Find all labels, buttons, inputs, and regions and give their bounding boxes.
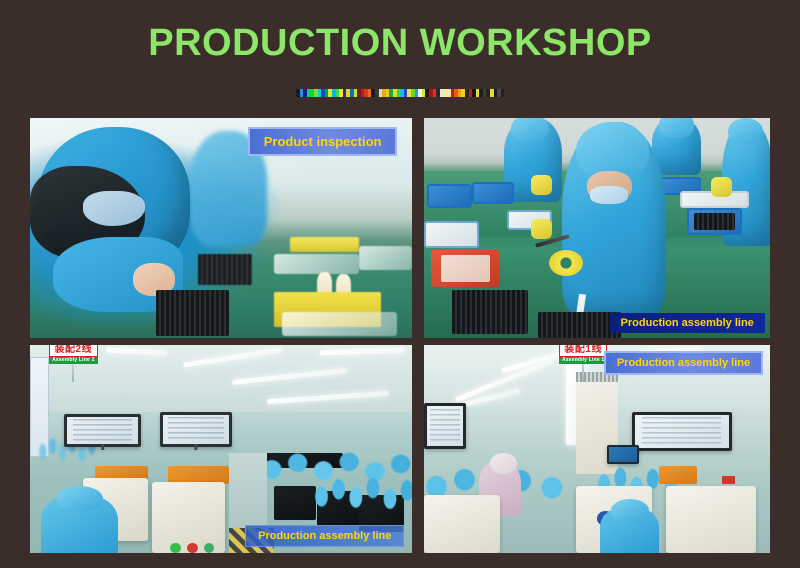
photo-assembly-line-1[interactable]: M 装配1线 Assembly Line 1 Production assemb… — [424, 345, 770, 553]
overhead-sign-assembly-line-2: 装配2线 Assembly Line 2 — [49, 345, 97, 382]
photo-assembly-line-2[interactable]: gaSig 装配2线 Assembly Line 2 Production as… — [30, 345, 412, 553]
page-title: PRODUCTION WORKSHOP — [0, 22, 800, 65]
yellow-hand-tool — [531, 219, 552, 239]
caption-assembly-line-2: Production assembly line — [245, 525, 404, 547]
blue-parts-bin — [472, 182, 514, 204]
yellow-hand-tool — [711, 177, 732, 197]
rainbow-divider-strip — [296, 89, 505, 97]
pcb-stack — [452, 290, 528, 334]
overhead-sign-assembly-line-1: 装配1线 Assembly Line 1 — [559, 345, 607, 382]
sign-chinese-label: 装配1线 — [559, 345, 607, 357]
sign-english-label: Assembly Line 2 — [49, 357, 97, 364]
sign-chinese-label: 装配2线 — [49, 345, 97, 357]
reflow-oven — [666, 486, 756, 553]
divider-bar — [501, 89, 505, 97]
production-monitor — [632, 412, 732, 452]
monitor-content — [430, 409, 460, 442]
component-tray — [198, 254, 251, 285]
face-mask-icon — [83, 191, 144, 226]
blister-pack — [274, 254, 358, 274]
orange-machine-top — [659, 466, 697, 485]
worker-cap — [57, 486, 103, 511]
worker-crowd — [313, 461, 412, 519]
red-indicator-icon — [187, 543, 197, 553]
caption-assembly-bench: Production assembly line — [610, 313, 765, 333]
blister-pack — [282, 312, 397, 336]
blue-parts-bin — [427, 184, 472, 208]
machine-button-panel[interactable] — [160, 543, 225, 553]
white-parts-tray — [424, 221, 479, 247]
caption-product-inspection: Product inspection — [248, 127, 398, 156]
monitor-content — [168, 417, 224, 442]
production-monitor — [160, 412, 233, 447]
reflow-oven — [424, 495, 500, 553]
production-monitor — [424, 403, 466, 449]
worker-cap — [611, 499, 649, 522]
worker-cap — [490, 453, 518, 474]
yellow-tray — [290, 237, 359, 252]
component-rack — [274, 486, 316, 519]
green-indicator-icon — [204, 543, 214, 553]
sign-pole — [72, 364, 74, 382]
status-display — [607, 445, 638, 464]
green-indicator-icon — [170, 543, 180, 553]
worker-cap — [511, 118, 549, 142]
monitor-content — [642, 417, 721, 445]
production-photo-gallery: Product inspection Production a — [30, 118, 770, 553]
face-mask-icon — [590, 186, 628, 204]
red-indicator-icon — [722, 476, 736, 484]
photo-product-inspection[interactable]: Product inspection — [30, 118, 412, 338]
battery-cell-tray — [156, 290, 229, 336]
worker-cap — [728, 118, 763, 144]
caption-assembly-line-1: Production assembly line — [604, 351, 763, 375]
red-parts-tray — [431, 250, 500, 287]
photo-assembly-bench[interactable]: Production assembly line — [424, 118, 770, 338]
worker-cap — [659, 118, 694, 138]
sign-pole — [582, 364, 584, 382]
blister-pack — [359, 246, 412, 270]
production-monitor — [64, 414, 140, 447]
monitor-content — [73, 419, 132, 442]
sign-english-label: Assembly Line 1 — [559, 357, 607, 364]
component-tray — [694, 213, 736, 231]
yellow-hand-tool — [531, 175, 552, 195]
